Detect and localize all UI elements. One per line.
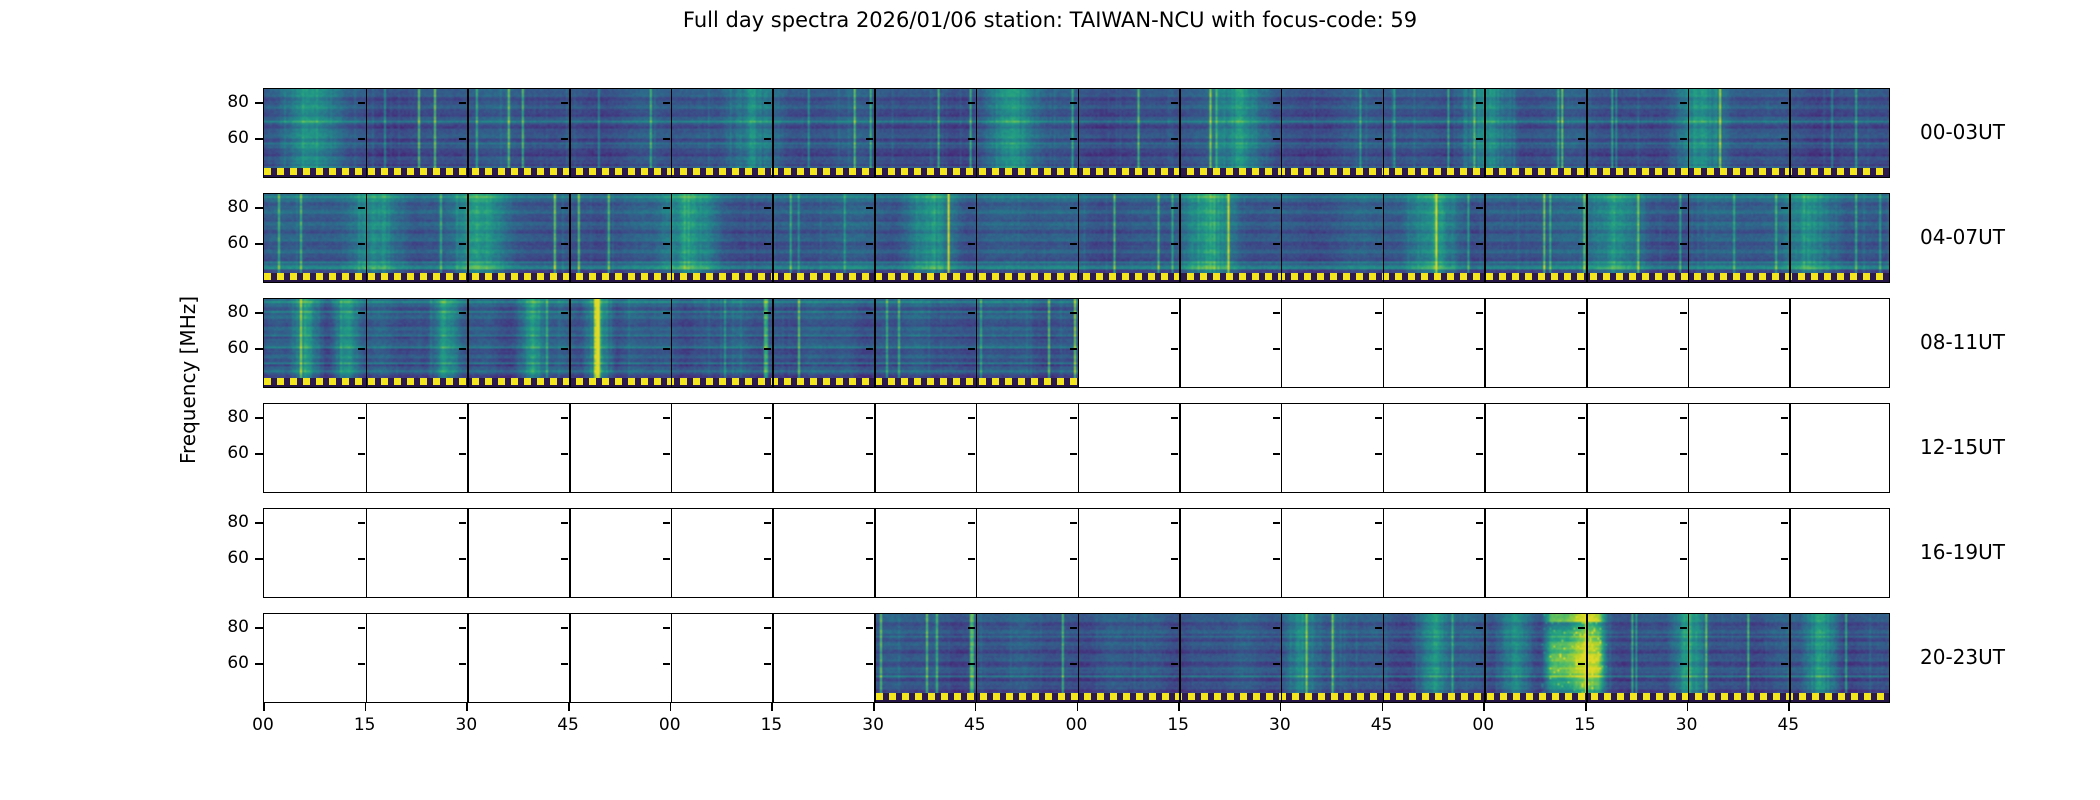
y-subtick [459,312,466,314]
subpanel-divider [1586,299,1588,387]
y-subtick [1070,102,1077,104]
y-subtick [1171,312,1178,314]
x-tick-8 [1077,703,1079,711]
y-subtick [866,138,873,140]
y-subtick [1375,558,1382,560]
x-tick-4 [670,703,672,711]
subpanel-divider [1789,404,1791,492]
y-subtick [1781,312,1788,314]
y-subtick [1781,417,1788,419]
plot-axes [263,193,1890,283]
y-subtick [1578,417,1585,419]
subpanel-divider [671,404,673,492]
subpanel-divider [1281,404,1283,492]
y-subtick [1476,627,1483,629]
y-axis-label: Frequency [MHz] [176,60,202,700]
y-subtick [1781,348,1788,350]
y-subtick [866,558,873,560]
subpanel-divider [569,299,571,387]
plot-axes [263,508,1890,598]
y-subtick [764,663,771,665]
y-subtick [1375,243,1382,245]
subpanel-divider [1281,89,1283,177]
row-caption-20-23ut: 20-23UT [1920,645,2005,669]
y-subtick [968,138,975,140]
y-subtick [358,558,365,560]
y-subtick [866,627,873,629]
y-subtick [866,453,873,455]
subpanel-divider [1484,89,1486,177]
spectrogram-row-04-07ut: 8060 [263,193,1890,283]
subpanel-divider [1383,299,1385,387]
x-tick-label-0: 00 [252,715,274,735]
y-subtick [663,207,670,209]
x-tick-label-13: 15 [1574,715,1596,735]
y-subtick [1680,312,1687,314]
spectrogram-row-08-11ut: 8060 [263,298,1890,388]
x-tick-12 [1483,703,1485,711]
y-subtick [1375,522,1382,524]
plot-axes [263,403,1890,493]
y-subtick [561,207,568,209]
y-subtick [1070,627,1077,629]
y-subtick [1273,243,1280,245]
y-subtick [1070,138,1077,140]
y-subtick [1273,207,1280,209]
y-subtick [764,417,771,419]
y-subtick [663,243,670,245]
y-tick-label-60: 60 [207,653,249,673]
y-subtick [1273,417,1280,419]
y-tick-60 [255,138,263,140]
y-subtick [1171,348,1178,350]
x-tick-15 [1788,703,1790,711]
y-tick-80 [255,102,263,104]
subpanel-divider [467,89,469,177]
spectrogram-row-12-15ut: 8060 [263,403,1890,493]
y-subtick [1680,558,1687,560]
x-tick-label-15: 45 [1777,715,1799,735]
y-subtick [764,138,771,140]
x-tick-14 [1687,703,1689,711]
y-subtick [866,243,873,245]
y-subtick [764,243,771,245]
y-subtick [358,663,365,665]
subpanel-divider [467,404,469,492]
subpanel-divider [1078,89,1080,177]
y-subtick [1680,627,1687,629]
y-subtick [1273,102,1280,104]
subpanel-divider [1078,299,1080,387]
subpanel-divider [976,404,978,492]
subpanel-divider [467,194,469,282]
y-subtick [764,522,771,524]
subpanel-divider [1179,404,1181,492]
subpanel-divider [1281,194,1283,282]
y-subtick [663,663,670,665]
y-subtick [1375,663,1382,665]
y-tick-label-80: 80 [207,617,249,637]
y-subtick [968,348,975,350]
y-subtick [1171,663,1178,665]
y-subtick [358,102,365,104]
y-subtick [1680,453,1687,455]
y-subtick [1273,558,1280,560]
subpanel-divider [1179,194,1181,282]
subpanel-divider [1383,404,1385,492]
y-subtick [358,453,365,455]
subpanel-divider [1586,404,1588,492]
y-subtick [663,138,670,140]
subpanel-divider [1078,194,1080,282]
subpanel-divider [1586,509,1588,597]
y-subtick [1273,312,1280,314]
y-subtick [764,207,771,209]
subpanel-divider [366,614,368,702]
y-subtick [1781,102,1788,104]
y-tick-80 [255,627,263,629]
y-subtick [663,102,670,104]
subpanel-divider [1484,194,1486,282]
spectrogram-row-20-23ut: 806000153045001530450015304500153045 [263,613,1890,703]
y-subtick [764,453,771,455]
x-tick-0 [263,703,265,711]
subpanel-divider [569,509,571,597]
y-subtick [764,312,771,314]
subpanel-divider [1281,299,1283,387]
y-subtick [663,312,670,314]
y-subtick [561,348,568,350]
subpanel-divider [772,299,774,387]
subpanel-divider [772,404,774,492]
y-subtick [1680,102,1687,104]
y-subtick [1171,207,1178,209]
subpanel-divider [1586,194,1588,282]
subpanel-divider [772,89,774,177]
y-subtick [1171,102,1178,104]
y-subtick [866,417,873,419]
y-subtick [1070,522,1077,524]
y-subtick [1375,138,1382,140]
subpanel-divider [976,89,978,177]
y-subtick [1476,522,1483,524]
spectrogram-figure: Full day spectra 2026/01/06 station: TAI… [0,0,2100,800]
y-tick-80 [255,522,263,524]
row-caption-04-07ut: 04-07UT [1920,225,2005,249]
y-tick-80 [255,312,263,314]
subpanel-divider [1789,194,1791,282]
y-subtick [1680,663,1687,665]
x-tick-label-2: 30 [456,715,478,735]
x-tick-2 [466,703,468,711]
y-subtick [1171,522,1178,524]
y-subtick [561,138,568,140]
y-subtick [663,558,670,560]
y-subtick [561,243,568,245]
y-subtick [1070,558,1077,560]
subpanel-divider [671,614,673,702]
y-subtick [1781,558,1788,560]
x-tick-1 [365,703,367,711]
subpanel-divider [366,194,368,282]
y-subtick [1171,627,1178,629]
y-subtick [764,627,771,629]
subpanel-divider [467,299,469,387]
y-subtick [968,102,975,104]
subpanel-divider [366,89,368,177]
y-tick-60 [255,453,263,455]
y-subtick [1375,417,1382,419]
y-subtick [1273,453,1280,455]
y-subtick [1578,558,1585,560]
x-tick-label-4: 00 [659,715,681,735]
x-tick-11 [1382,703,1384,711]
y-subtick [1375,312,1382,314]
y-subtick [1781,627,1788,629]
y-subtick [1070,312,1077,314]
y-subtick [1273,348,1280,350]
y-subtick [663,627,670,629]
x-tick-label-3: 45 [557,715,579,735]
y-subtick [1070,207,1077,209]
y-subtick [1070,417,1077,419]
subpanel-divider [1078,614,1080,702]
y-subtick [561,522,568,524]
y-subtick [358,138,365,140]
y-subtick [968,558,975,560]
y-subtick [459,522,466,524]
subpanel-divider [1789,299,1791,387]
y-subtick [459,453,466,455]
y-subtick [1781,207,1788,209]
y-subtick [1070,348,1077,350]
y-subtick [1171,243,1178,245]
y-subtick [1476,312,1483,314]
y-subtick [1476,207,1483,209]
y-subtick [561,312,568,314]
row-caption-12-15ut: 12-15UT [1920,435,2005,459]
subpanel-divider [1383,194,1385,282]
subpanel-divider [366,509,368,597]
y-subtick [1781,243,1788,245]
subpanel-divider [1484,299,1486,387]
y-subtick [358,348,365,350]
y-subtick [1273,663,1280,665]
subpanel-divider [569,194,571,282]
y-tick-label-80: 80 [207,512,249,532]
spectrogram-row-16-19ut: 8060 [263,508,1890,598]
x-tick-label-7: 45 [964,715,986,735]
y-subtick [561,663,568,665]
subpanel-divider [671,509,673,597]
y-subtick [1578,243,1585,245]
y-tick-label-80: 80 [207,302,249,322]
x-tick-10 [1280,703,1282,711]
subpanel-divider [1078,509,1080,597]
subpanel-divider [1179,299,1181,387]
y-tick-60 [255,663,263,665]
y-subtick [1375,453,1382,455]
y-subtick [459,663,466,665]
y-subtick [1578,663,1585,665]
subpanel-divider [671,194,673,282]
y-subtick [1070,243,1077,245]
y-subtick [1476,663,1483,665]
y-subtick [459,558,466,560]
x-tick-label-8: 00 [1066,715,1088,735]
subpanel-divider [874,509,876,597]
y-subtick [1476,453,1483,455]
x-tick-label-12: 00 [1472,715,1494,735]
x-tick-5 [771,703,773,711]
y-subtick [1171,417,1178,419]
y-subtick [459,102,466,104]
y-subtick [1680,207,1687,209]
x-tick-9 [1178,703,1180,711]
y-subtick [1375,102,1382,104]
x-tick-6 [873,703,875,711]
subpanel-divider [1688,404,1690,492]
subpanel-divider [976,509,978,597]
plot-axes [263,88,1890,178]
y-subtick [1171,558,1178,560]
subpanel-divider [569,89,571,177]
subpanel-divider [772,614,774,702]
subpanel-divider [467,509,469,597]
subpanel-divider [1383,89,1385,177]
subpanel-divider [1586,89,1588,177]
y-subtick [1578,627,1585,629]
y-tick-label-80: 80 [207,407,249,427]
y-subtick [1171,453,1178,455]
x-tick-label-9: 15 [1167,715,1189,735]
y-subtick [1680,348,1687,350]
subpanel-divider [874,194,876,282]
y-tick-label-60: 60 [207,128,249,148]
y-subtick [1375,627,1382,629]
y-tick-80 [255,417,263,419]
subpanel-divider [976,614,978,702]
y-subtick [561,453,568,455]
y-subtick [358,627,365,629]
y-subtick [764,102,771,104]
subpanel-divider [366,404,368,492]
y-subtick [561,417,568,419]
y-subtick [1578,138,1585,140]
y-subtick [663,417,670,419]
y-subtick [1781,522,1788,524]
y-subtick [1578,102,1585,104]
y-subtick [1476,102,1483,104]
subpanel-divider [1179,89,1181,177]
y-subtick [358,243,365,245]
subpanel-divider [1688,89,1690,177]
y-subtick [764,348,771,350]
y-subtick [866,663,873,665]
x-tick-label-10: 30 [1269,715,1291,735]
subpanel-divider [671,299,673,387]
subpanel-divider [1789,89,1791,177]
subpanel-divider [772,509,774,597]
subpanel-divider [1281,509,1283,597]
y-subtick [459,417,466,419]
subpanel-divider [1688,509,1690,597]
subpanel-divider [1789,614,1791,702]
y-subtick [1680,138,1687,140]
y-subtick [561,627,568,629]
y-subtick [1273,627,1280,629]
y-subtick [1273,138,1280,140]
subpanel-divider [366,299,368,387]
row-caption-08-11ut: 08-11UT [1920,330,2005,354]
y-subtick [358,522,365,524]
y-subtick [459,348,466,350]
subpanel-divider [569,404,571,492]
subpanel-divider [467,614,469,702]
y-subtick [968,522,975,524]
y-subtick [1375,207,1382,209]
y-tick-label-60: 60 [207,338,249,358]
subpanel-divider [1179,614,1181,702]
spectrogram-row-00-03ut: 8060 [263,88,1890,178]
y-subtick [358,312,365,314]
y-subtick [968,627,975,629]
y-tick-60 [255,348,263,350]
y-subtick [561,102,568,104]
y-subtick [1476,348,1483,350]
y-subtick [459,627,466,629]
y-subtick [1578,453,1585,455]
subpanel-divider [1281,614,1283,702]
y-subtick [1476,138,1483,140]
y-subtick [1375,348,1382,350]
y-subtick [1781,138,1788,140]
y-subtick [459,243,466,245]
y-subtick [866,102,873,104]
y-subtick [1070,663,1077,665]
subpanel-divider [1484,404,1486,492]
subpanel-divider [671,89,673,177]
subpanel-divider [1383,614,1385,702]
subpanel-divider [874,404,876,492]
y-subtick [968,663,975,665]
y-subtick [1273,522,1280,524]
y-subtick [1171,138,1178,140]
y-subtick [1680,417,1687,419]
subpanel-divider [874,89,876,177]
y-subtick [663,348,670,350]
y-subtick [1476,417,1483,419]
y-subtick [1781,453,1788,455]
subpanel-divider [1484,614,1486,702]
y-subtick [1578,348,1585,350]
subpanel-divider [569,614,571,702]
y-subtick [968,453,975,455]
y-subtick [459,207,466,209]
y-tick-60 [255,243,263,245]
y-subtick [1578,312,1585,314]
y-subtick [1476,243,1483,245]
y-subtick [764,558,771,560]
y-subtick [1680,522,1687,524]
y-subtick [1476,558,1483,560]
y-tick-80 [255,207,263,209]
x-tick-13 [1585,703,1587,711]
subpanel-divider [1688,299,1690,387]
subpanel-divider [1484,509,1486,597]
y-tick-label-80: 80 [207,197,249,217]
subpanel-divider [874,614,876,702]
